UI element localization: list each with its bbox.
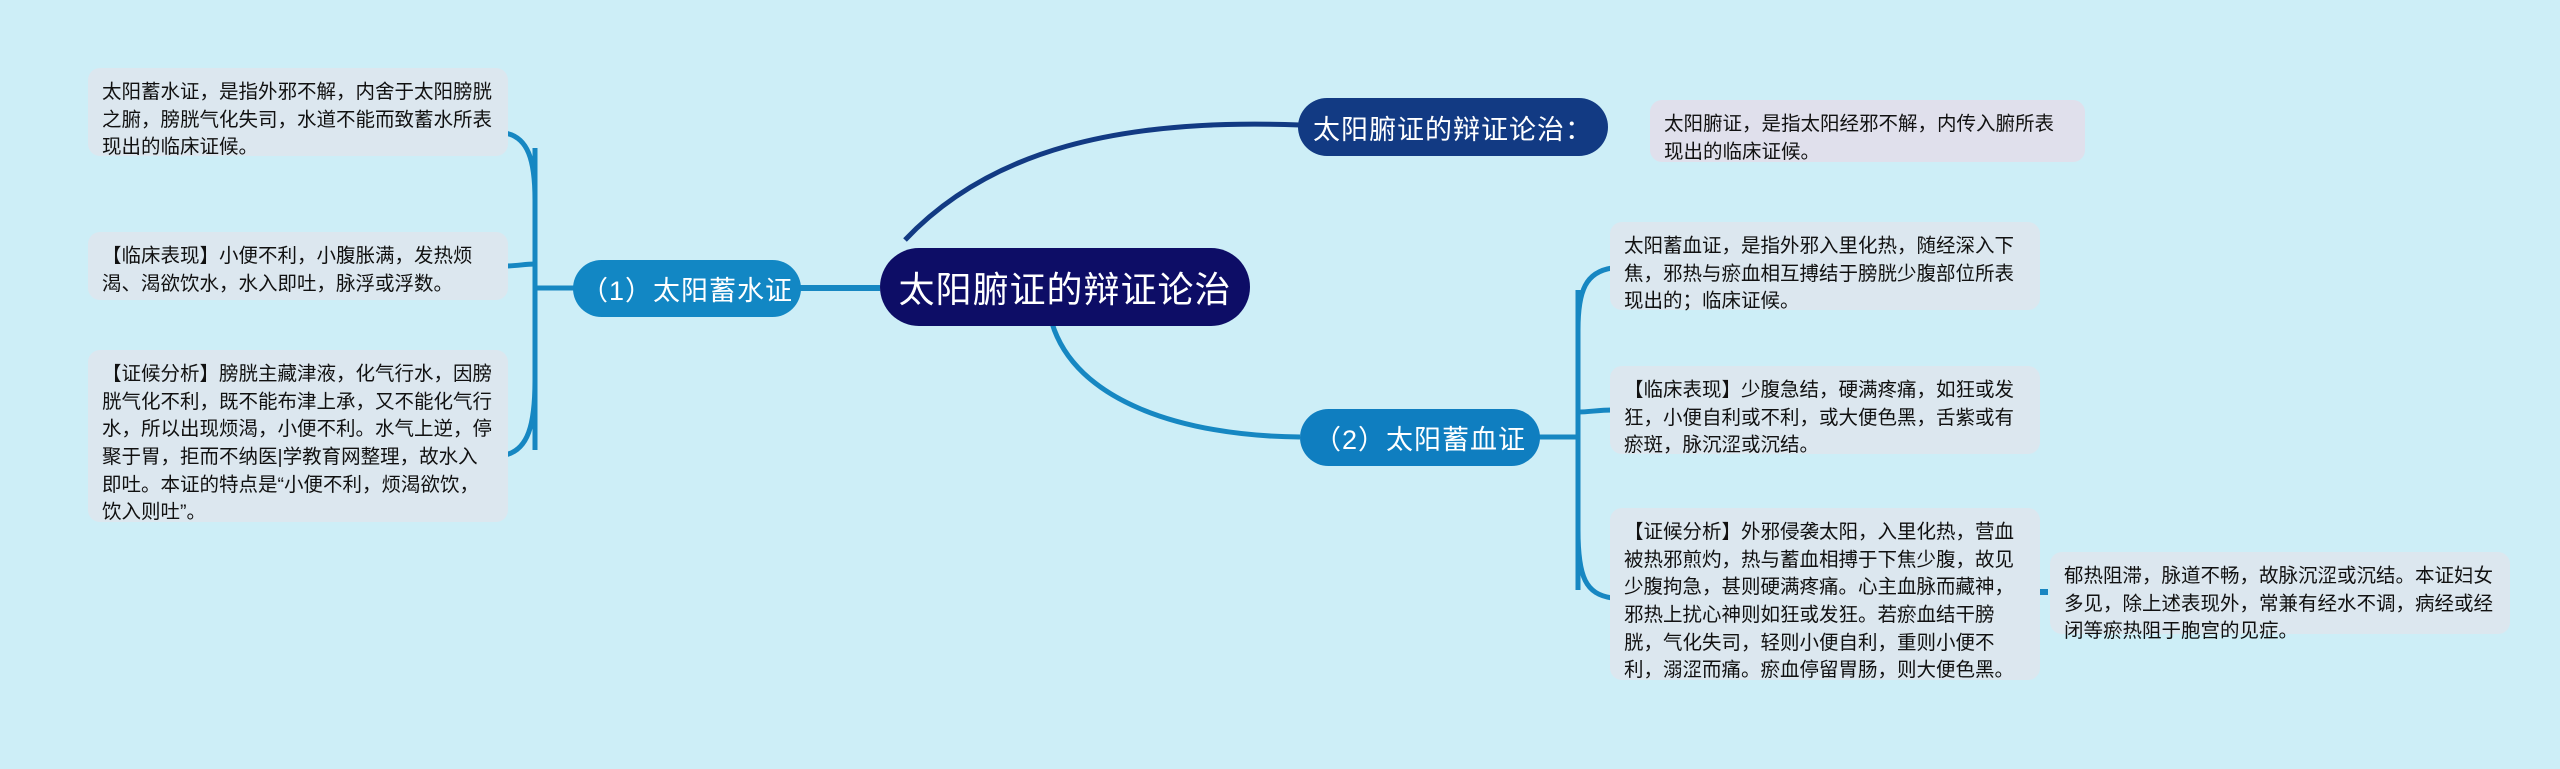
leaf-branch1-analysis: 【证候分析】膀胱主藏津液，化气行水，因膀胱气化不利，既不能布津上承，又不能化气行… <box>88 350 508 522</box>
connector-root-to-branch2 <box>1052 323 1300 437</box>
branch-node-2-label: （2）太阳蓄血证 <box>1314 418 1526 457</box>
branch-node-intro[interactable]: 太阳腑证的辩证论治： <box>1298 98 1608 156</box>
connector-branch2-leaf1 <box>1578 268 1612 330</box>
branch-node-1-label: （1）太阳蓄水证 <box>581 269 793 308</box>
branch-node-2[interactable]: （2）太阳蓄血证 <box>1300 409 1540 466</box>
connector-branch2-leaf2 <box>1578 410 1612 412</box>
branch-node-1[interactable]: （1）太阳蓄水证 <box>573 260 801 317</box>
leaf-intro-definition: 太阳腑证，是指太阳经邪不解，内传入腑所表现出的临床证候。 <box>1650 100 2085 162</box>
leaf-branch2-manifestation: 【临床表现】少腹急结，硬满疼痛，如狂或发狂，小便自利或不利，或大便色黑，舌紫或有… <box>1610 366 2040 454</box>
connector-root-to-intro <box>905 124 1300 240</box>
connector-branch1-leaf2 <box>505 264 535 266</box>
connector-branch2-leaf3 <box>1578 530 1612 598</box>
branch-node-intro-label: 太阳腑证的辩证论治： <box>1313 108 1593 147</box>
leaf-branch2-definition: 太阳蓄血证，是指外邪入里化热，随经深入下焦，邪热与瘀血相互搏结于膀胱少腹部位所表… <box>1610 222 2040 310</box>
leaf-branch2-analysis-continuation: 郁热阻滞，脉道不畅，故脉沉涩或沉结。本证妇女多见，除上述表现外，常兼有经水不调，… <box>2050 552 2510 634</box>
connector-branch1-leaf1 <box>505 133 535 200</box>
root-node[interactable]: 太阳腑证的辩证论治 <box>880 248 1250 326</box>
connector-branch1-leaf3 <box>505 380 535 455</box>
leaf-branch1-definition: 太阳蓄水证，是指外邪不解，内舍于太阳膀胱之腑，膀胱气化失司，水道不能而致蓄水所表… <box>88 68 508 156</box>
mindmap-canvas: 太阳腑证的辩证论治 太阳腑证的辩证论治： （1）太阳蓄水证 （2）太阳蓄血证 太… <box>0 0 2560 769</box>
leaf-branch2-analysis: 【证候分析】外邪侵袭太阳，入里化热，营血被热邪煎灼，热与蓄血相搏于下焦少腹，故见… <box>1610 508 2040 680</box>
leaf-branch1-manifestation: 【临床表现】小便不利，小腹胀满，发热烦渴、渴欲饮水，水入即吐，脉浮或浮数。 <box>88 232 508 300</box>
root-node-label: 太阳腑证的辩证论治 <box>899 261 1232 313</box>
